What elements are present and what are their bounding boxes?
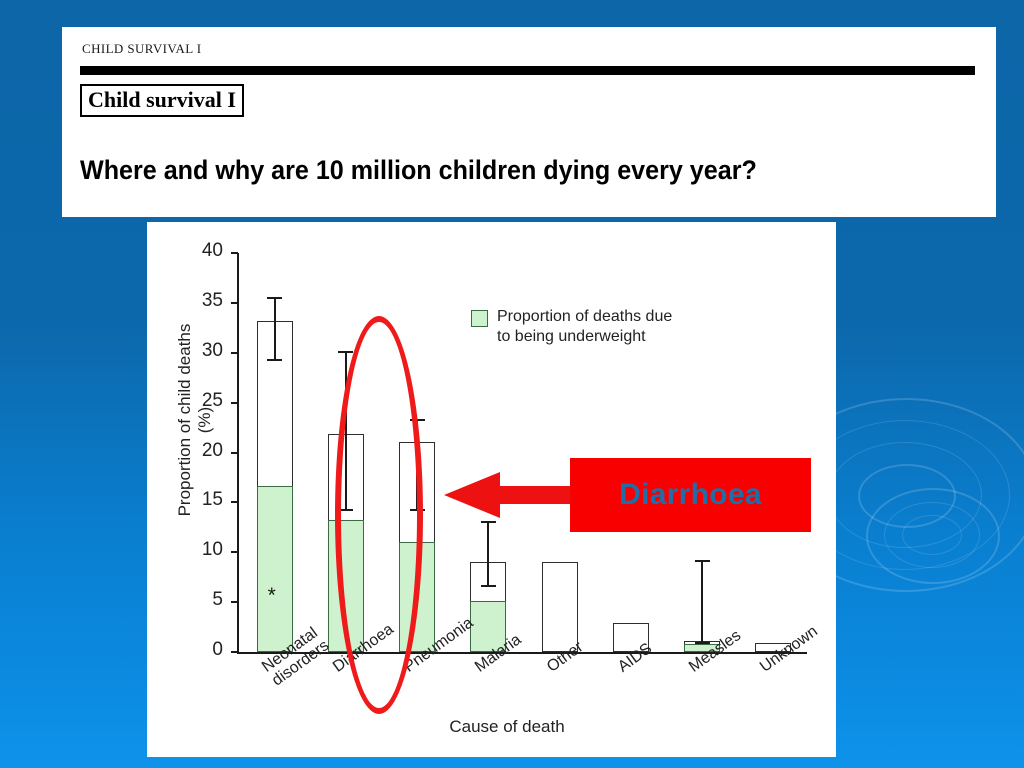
header-rule xyxy=(80,66,975,75)
y-tick xyxy=(231,352,238,354)
y-tick xyxy=(231,402,238,404)
y-axis-title: Proportion of child deaths (%) xyxy=(175,310,215,530)
y-tick xyxy=(231,601,238,603)
error-bar-cap-lower xyxy=(481,585,496,587)
error-bar-cap-lower xyxy=(267,359,282,361)
legend-swatch-underweight xyxy=(471,310,488,327)
bar-total xyxy=(542,562,578,652)
y-tick xyxy=(231,501,238,503)
error-bar-cap-upper xyxy=(267,297,282,299)
legend-label-underweight: Proportion of deaths due to being underw… xyxy=(497,307,672,346)
y-tick xyxy=(231,452,238,454)
page-title: Child survival I xyxy=(80,84,244,117)
asterisk-annotation: * xyxy=(268,584,276,608)
callout-label: Diarrhoea xyxy=(619,478,762,512)
y-tick-label: 40 xyxy=(189,240,223,262)
callout-arrow-icon xyxy=(444,470,574,520)
error-bar-line xyxy=(487,522,489,586)
y-tick-label: 5 xyxy=(189,589,223,611)
y-tick xyxy=(231,302,238,304)
header-card: CHILD SURVIVAL I Child survival I Where … xyxy=(62,27,996,217)
bar-underweight xyxy=(257,486,293,652)
error-bar-line xyxy=(701,561,703,643)
y-tick xyxy=(231,651,238,653)
error-bar-cap-lower xyxy=(695,642,710,644)
y-tick xyxy=(231,551,238,553)
error-bar-cap-upper xyxy=(338,351,353,353)
error-bar-line xyxy=(274,298,276,360)
y-tick-label: 10 xyxy=(189,539,223,561)
y-tick xyxy=(231,252,238,254)
chart-legend: Proportion of deaths due to being underw… xyxy=(471,307,672,346)
slide-kicker: CHILD SURVIVAL I xyxy=(82,41,201,57)
ripple-decoration-small xyxy=(866,488,996,618)
slide-question: Where and why are 10 million children dy… xyxy=(80,155,757,186)
x-axis-title: Cause of death xyxy=(347,717,667,737)
error-bar-cap-upper xyxy=(481,521,496,523)
error-bar-cap-upper xyxy=(695,560,710,562)
y-tick-label: 0 xyxy=(189,639,223,661)
diarrhoea-callout-box: Diarrhoea xyxy=(570,458,811,532)
diarrhoea-highlight-ellipse xyxy=(335,316,423,714)
y-tick-label: 35 xyxy=(189,290,223,312)
